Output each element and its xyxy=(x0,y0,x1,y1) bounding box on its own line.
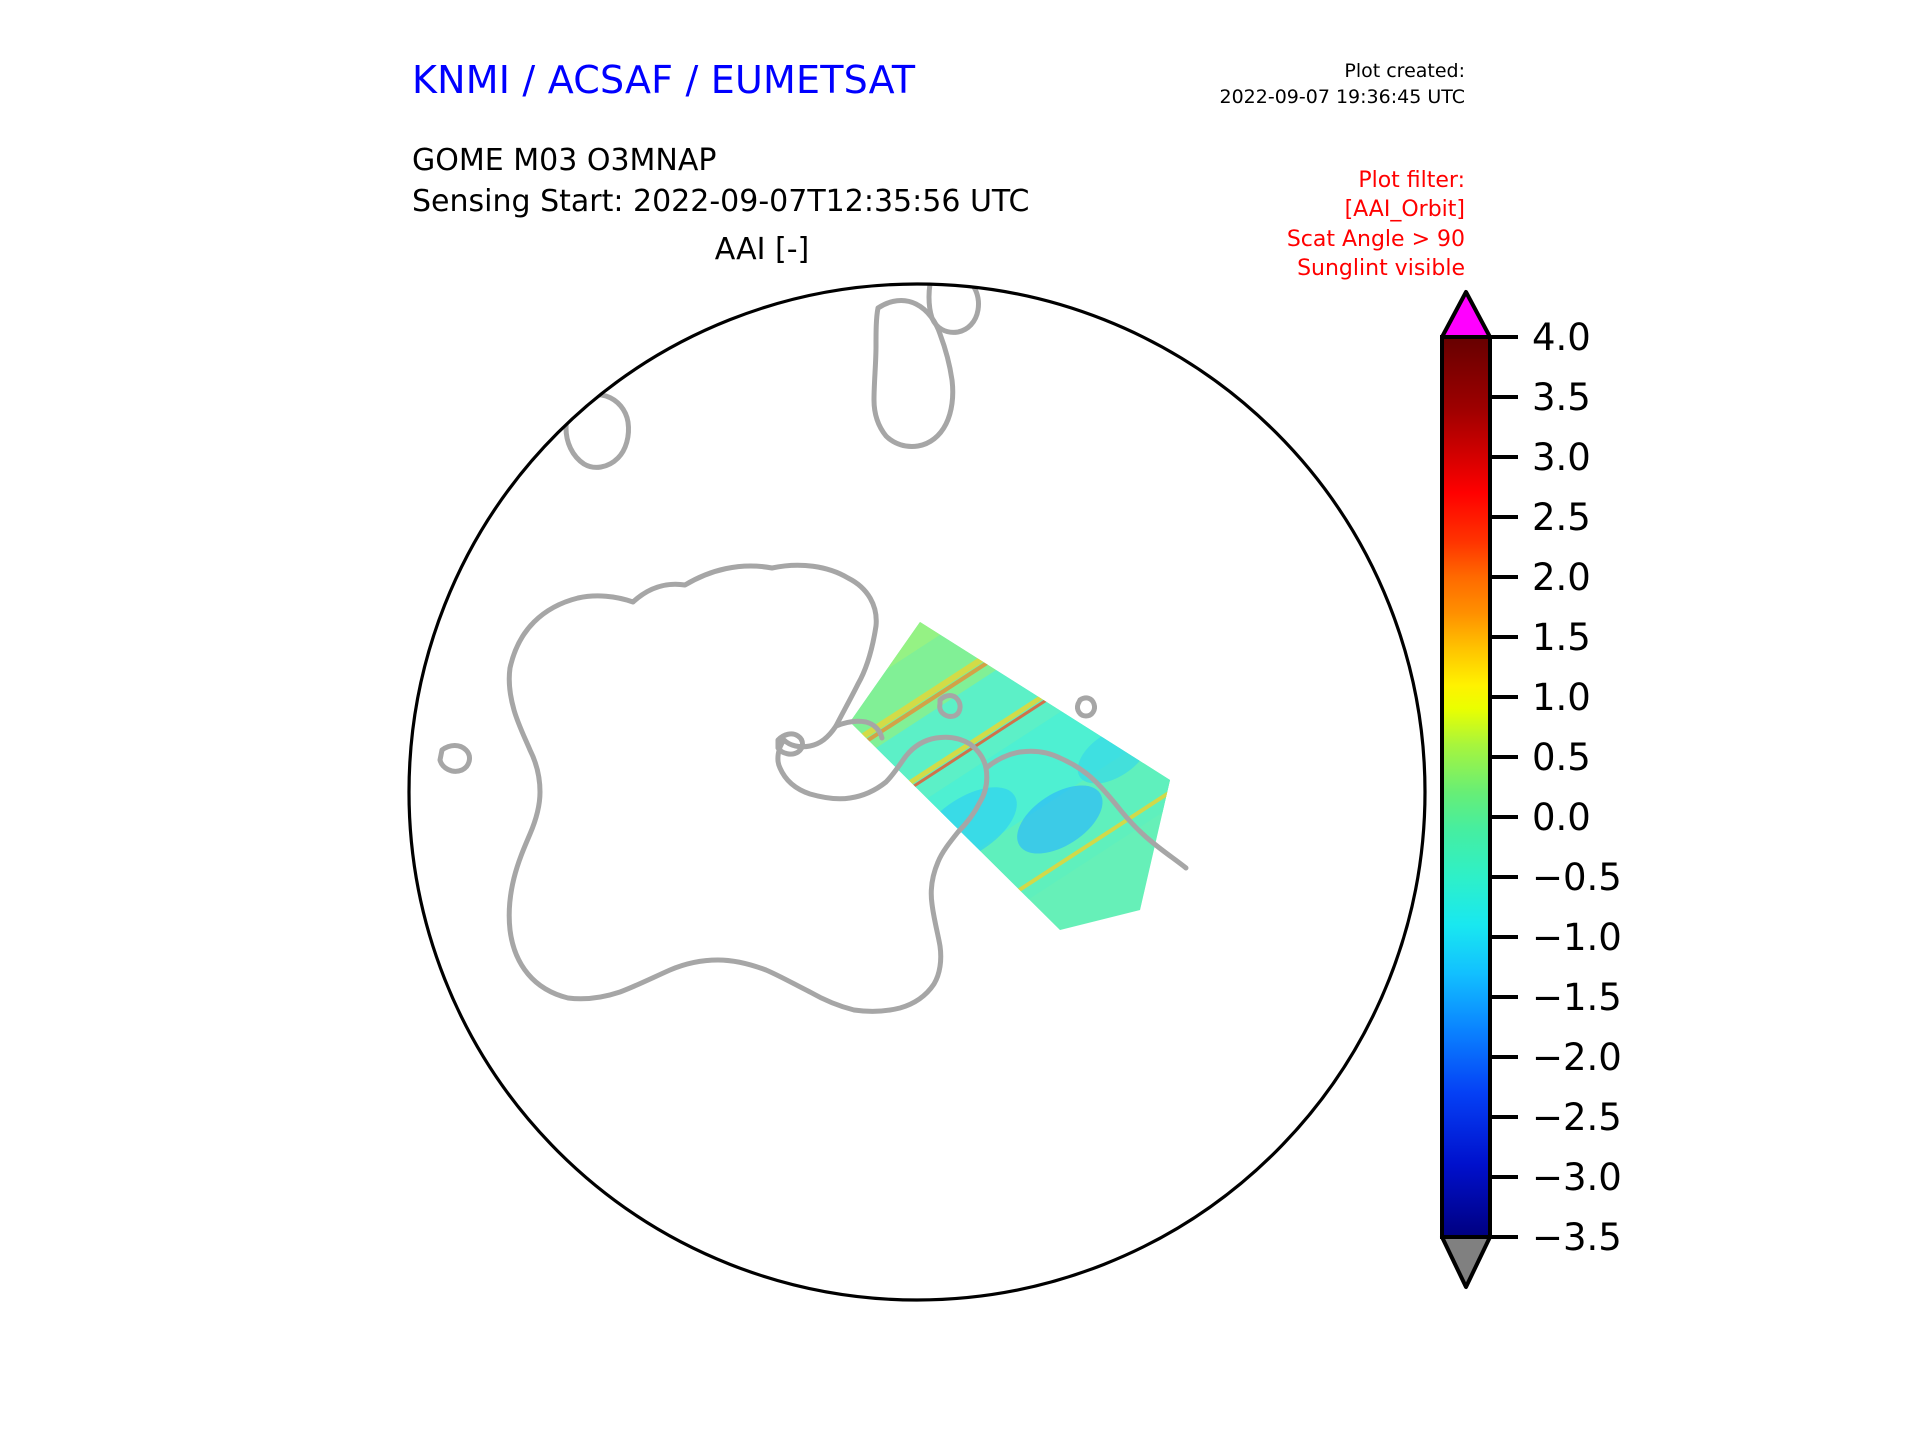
instrument-title: GOME M03 O3MNAP xyxy=(412,140,1029,181)
colorbar-tick-label: −2.0 xyxy=(1532,1036,1622,1079)
colorbar-tick-label: −2.5 xyxy=(1532,1096,1622,1139)
colorbar-tick-label: 2.5 xyxy=(1532,496,1591,539)
page-title: KNMI / ACSAF / EUMETSAT xyxy=(412,58,915,102)
tasmania-coastline xyxy=(566,395,629,468)
island-small-3 xyxy=(1077,698,1094,716)
colorbar-tick-label: −3.5 xyxy=(1532,1216,1622,1259)
plot-page: KNMI / ACSAF / EUMETSAT Plot created: 20… xyxy=(0,0,1920,1440)
colorbar-tick-label: 2.0 xyxy=(1532,556,1591,599)
dataset-title-block: GOME M03 O3MNAP Sensing Start: 2022-09-0… xyxy=(412,140,1029,222)
sensing-start-line: Sensing Start: 2022-09-07T12:35:56 UTC xyxy=(412,181,1029,222)
polar-map xyxy=(380,270,1450,1330)
colorbar-tick-label: 1.5 xyxy=(1532,616,1591,659)
new-zealand-north-island xyxy=(929,272,979,333)
new-zealand-south-island xyxy=(874,301,953,447)
colorbar-tick-label: −0.5 xyxy=(1532,856,1622,899)
colorbar-ticks: 4.03.53.02.52.01.51.00.50.0−0.5−1.0−1.5−… xyxy=(1492,316,1622,1259)
colorbar-gradient xyxy=(1442,337,1490,1237)
plot-filter-scat-angle: Scat Angle > 90 xyxy=(1287,225,1465,254)
colorbar-tick-label: 1.0 xyxy=(1532,676,1591,719)
colorbar-tick-label: −1.0 xyxy=(1532,916,1622,959)
colorbar-tick-label: 3.5 xyxy=(1532,376,1591,419)
island-kerguelen xyxy=(440,746,469,772)
plot-filter-block: Plot filter: [AAI_Orbit] Scat Angle > 90… xyxy=(1287,166,1465,283)
colorbar-under-arrow xyxy=(1442,1237,1490,1287)
colorbar-tick-label: 4.0 xyxy=(1532,316,1591,359)
plot-filter-product: [AAI_Orbit] xyxy=(1287,195,1465,224)
plot-created-timestamp: 2022-09-07 19:36:45 UTC xyxy=(1220,84,1466,110)
colorbar-tick-label: 3.0 xyxy=(1532,436,1591,479)
colorbar: 4.03.53.02.52.01.51.00.50.0−0.5−1.0−1.5−… xyxy=(1432,282,1762,1302)
colorbar-over-arrow xyxy=(1442,292,1490,337)
colorbar-tick-label: 0.5 xyxy=(1532,736,1591,779)
colorbar-tick-label: −1.5 xyxy=(1532,976,1622,1019)
plot-created-block: Plot created: 2022-09-07 19:36:45 UTC xyxy=(1220,58,1466,110)
quantity-label: AAI [-] xyxy=(412,232,1112,267)
colorbar-tick-label: −3.0 xyxy=(1532,1156,1622,1199)
plot-filter-label: Plot filter: xyxy=(1287,166,1465,195)
coast-fragment-upper-left xyxy=(492,374,549,426)
map-canvas xyxy=(380,270,1450,1330)
colorbar-tick-label: 0.0 xyxy=(1532,796,1591,839)
map-limb-circle xyxy=(409,284,1425,1300)
colorbar-canvas: 4.03.53.02.52.01.51.00.50.0−0.5−1.0−1.5−… xyxy=(1432,282,1762,1302)
plot-created-label: Plot created: xyxy=(1220,58,1466,84)
